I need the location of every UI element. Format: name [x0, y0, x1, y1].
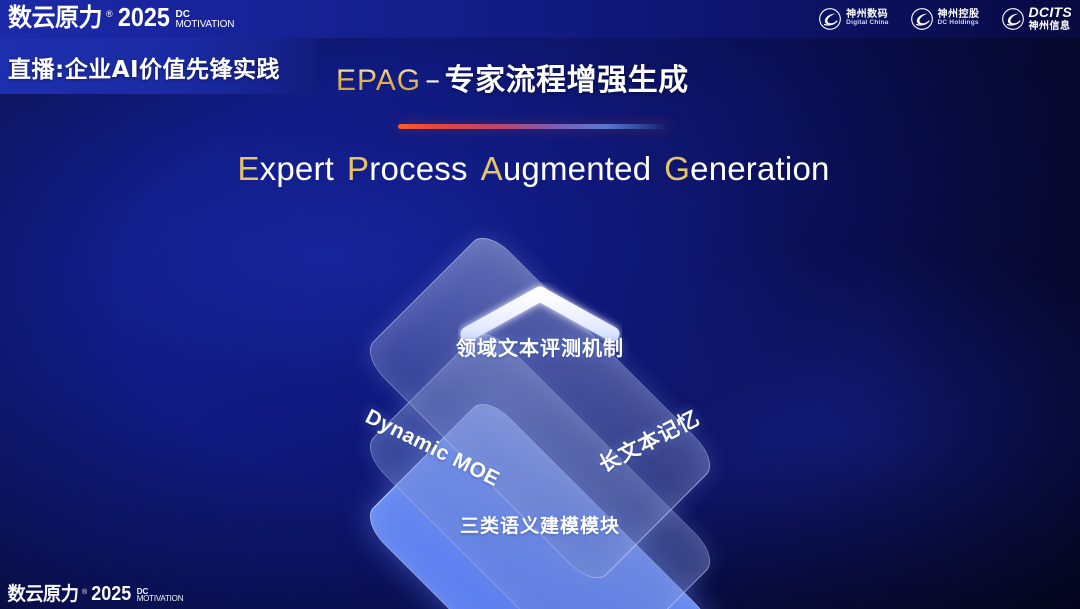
watermark-motivation: MOTIVATION	[137, 595, 184, 603]
watermark-dc-motivation: DC MOTIVATION	[137, 588, 184, 603]
watermark-year: 2025	[91, 584, 131, 604]
watermark-cn: 数云原力	[7, 585, 78, 604]
registered-mark-icon: ®	[82, 589, 87, 596]
footer-watermark-logo: 数云原力 ® 2025 DC MOTIVATION	[6, 4, 1070, 604]
slide-background: 领域文本评测机制 Dynamic MOE 长文本记忆 三类语义建模模块 数云原力…	[0, 0, 1080, 609]
